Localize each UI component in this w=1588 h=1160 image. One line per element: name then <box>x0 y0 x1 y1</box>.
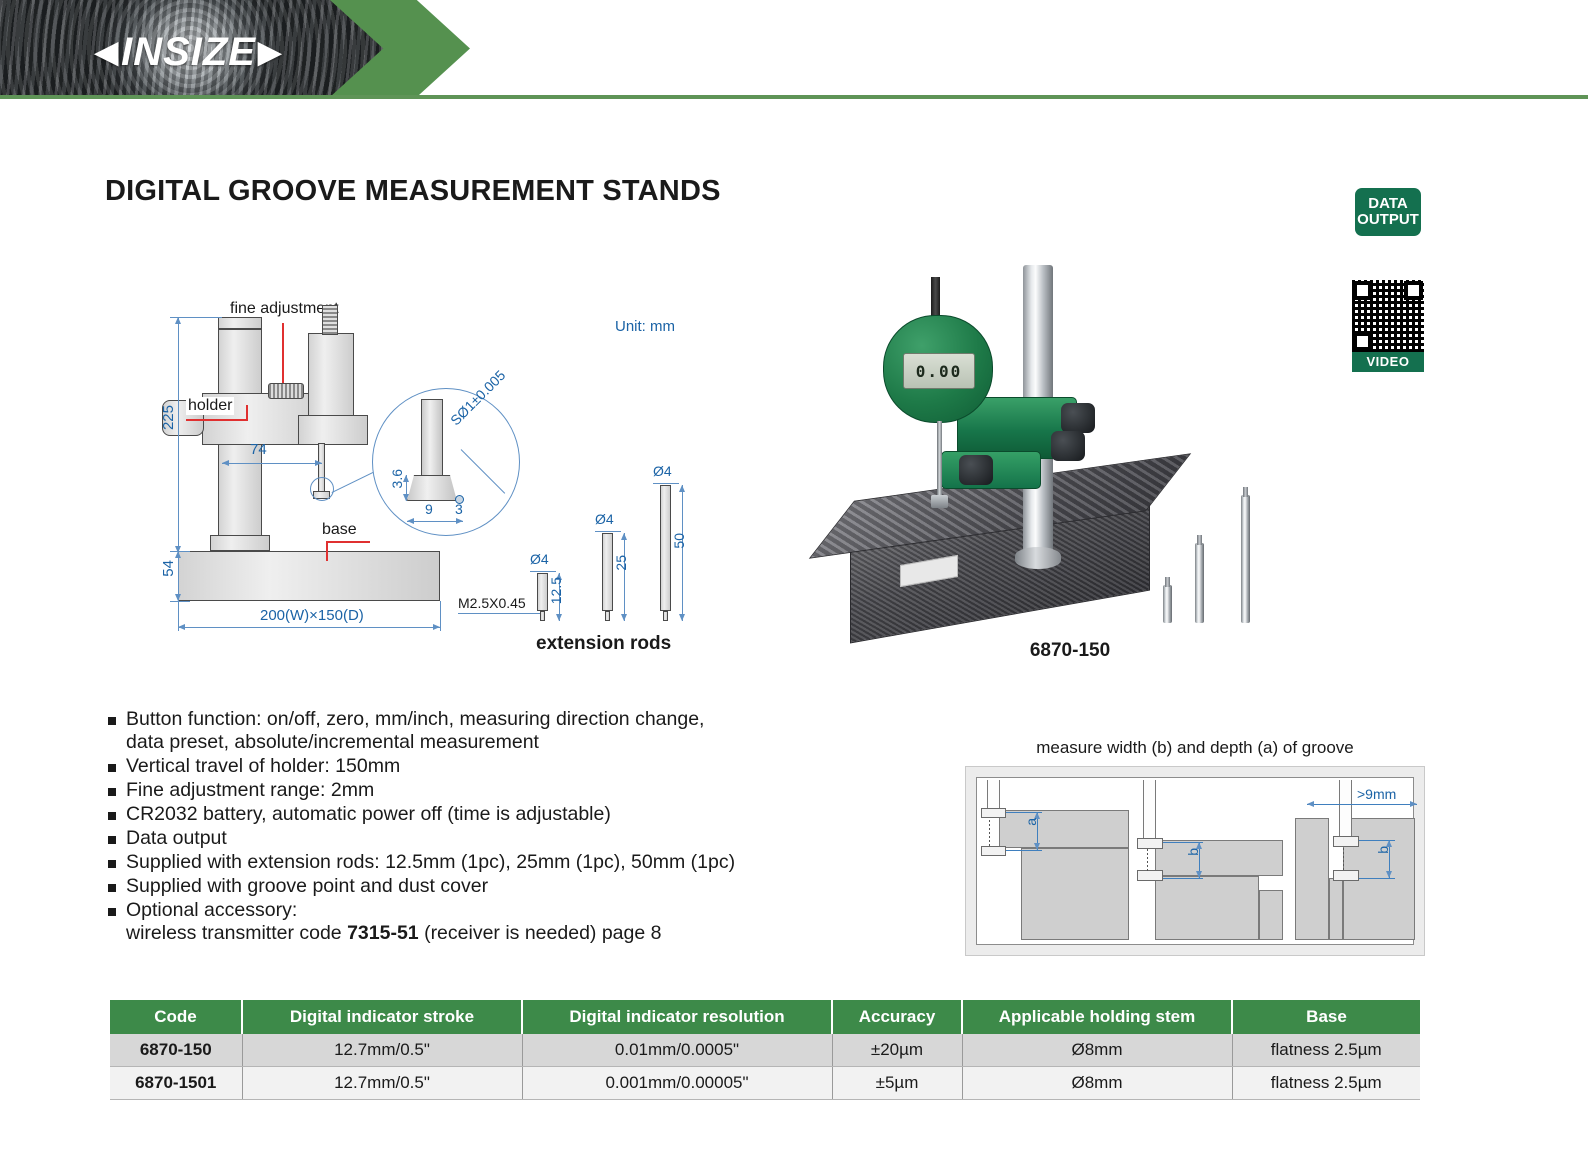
list-item: CR2032 battery, automatic power off (tim… <box>108 803 868 826</box>
cell-code: 6870-1501 <box>110 1067 242 1100</box>
probe-foot-3-bottom <box>1333 870 1359 881</box>
feature-text: Data output <box>126 827 227 850</box>
rod3-len-line <box>682 485 683 621</box>
clamp-knob-right <box>1061 403 1095 433</box>
data-output-badge: DATA OUTPUT <box>1355 188 1421 236</box>
holder-leader-vertical <box>246 405 248 421</box>
list-item: Fine adjustment range: 2mm <box>108 779 868 802</box>
groove-diagram-panel: a b b >9mm <box>965 766 1425 956</box>
unit-note: Unit: mm <box>615 318 675 335</box>
qr-finder-bottom-left <box>1353 332 1372 351</box>
detail-dim-line-9 <box>407 521 463 522</box>
product-photo: 0.00 6870-150 <box>845 255 1295 655</box>
column-header-code: Code <box>110 1000 242 1034</box>
feature-text: Supplied with extension rods: 12.5mm (1p… <box>126 851 735 874</box>
groove-label-a: a <box>1023 818 1039 826</box>
dim-line-clearance <box>1307 804 1417 805</box>
cell-base: flatness 2.5µm <box>1232 1067 1420 1100</box>
probe-stem-2 <box>1143 780 1156 842</box>
workpiece-3-groove-floor <box>1329 878 1343 940</box>
indicator-lcd-display: 0.00 <box>903 353 975 389</box>
detail-dim-9: 9 <box>425 501 433 517</box>
rod3-diameter: Ø4 <box>653 463 672 479</box>
extension-rod-25 <box>602 533 613 611</box>
workpiece-2-upper <box>1155 840 1283 876</box>
video-qr-block[interactable]: VIDEO <box>1352 280 1424 372</box>
holder-leader-horizontal <box>186 419 248 421</box>
bullet-square-icon <box>108 717 116 725</box>
dim-height-225: 225 <box>160 405 177 430</box>
indicator-probe <box>937 421 942 501</box>
table-row: 6870-150 12.7mm/0.5" 0.01mm/0.0005" ±20µ… <box>110 1034 1420 1067</box>
specification-table: Code Digital indicator stroke Digital in… <box>110 1000 1420 1100</box>
list-item-optional-accessory: Optional accessory: wireless transmitter… <box>108 899 868 945</box>
probe-dash-1 <box>989 818 990 846</box>
extension-rod-50-thread <box>663 611 668 621</box>
workpiece-1-lower <box>1021 848 1129 940</box>
dim-tick-54-top <box>170 551 190 552</box>
photo-extension-rod-50 <box>1241 495 1250 623</box>
logo-text: INSIZE <box>121 30 256 75</box>
dim-ext-base-right <box>440 601 441 631</box>
video-label: VIDEO <box>1352 352 1424 372</box>
qr-finder-top-left <box>1353 281 1372 300</box>
thread-spec-label: M2.5X0.45 <box>458 595 526 611</box>
cell-accuracy: ±20µm <box>832 1034 962 1067</box>
dim-offset-74: 74 <box>250 441 267 458</box>
workpiece-2-tab <box>1259 890 1283 940</box>
fine-adjustment-knurled-knob <box>268 383 304 399</box>
photo-extension-rod-25 <box>1195 543 1204 623</box>
dim-height-54: 54 <box>160 560 177 577</box>
thread-leader-line <box>458 613 544 614</box>
optional-accessory-detail: wireless transmitter code 7315-51 (recei… <box>126 922 661 944</box>
logo-right-arrow-icon: ▶ <box>258 35 282 70</box>
column-header-stroke: Digital indicator stroke <box>242 1000 522 1034</box>
bullet-square-icon <box>108 836 116 844</box>
probe-foot-1-bottom <box>981 846 1006 856</box>
photo-rod-25-tip <box>1197 535 1202 545</box>
extension-rod-25-thread <box>605 611 610 621</box>
dim-base-size: 200(W)×150(D) <box>260 607 364 624</box>
qr-finder-top-right <box>1404 281 1423 300</box>
rod1-dia-tick <box>530 571 556 572</box>
column-header-base: Base <box>1232 1000 1420 1034</box>
groove-label-clearance: >9mm <box>1357 786 1396 802</box>
list-item: Supplied with groove point and dust cove… <box>108 875 868 898</box>
extension-rod-50 <box>660 485 671 611</box>
column-header-resolution: Digital indicator resolution <box>522 1000 832 1034</box>
product-photo-caption: 6870-150 <box>845 640 1295 662</box>
rod3-length: 50 <box>671 533 687 549</box>
granite-base-drawing <box>178 551 440 601</box>
list-item: Button function: on/off, zero, mm/inch, … <box>108 708 868 754</box>
dim-line-54 <box>178 551 179 601</box>
base-leader-vertical <box>326 543 328 561</box>
cell-stem: Ø8mm <box>962 1034 1232 1067</box>
page-header: ◀INSIZE▶ <box>0 0 1588 100</box>
detail-dim-3: 3 <box>455 501 463 517</box>
indicator-probe-tip <box>931 495 948 508</box>
accessory-code[interactable]: 7315-51 <box>347 922 419 944</box>
groove-label-b1: b <box>1185 848 1201 856</box>
technical-drawing: Unit: mm fine adjustment Ø30 base holder… <box>100 255 860 675</box>
feature-text: Button function: on/off, zero, mm/inch, … <box>126 708 704 754</box>
probe-dash-2 <box>1147 849 1148 871</box>
column-foot <box>1015 547 1061 569</box>
rod2-length: 25 <box>613 555 629 571</box>
table-row: 6870-1501 12.7mm/0.5" 0.001mm/0.00005" ±… <box>110 1067 1420 1100</box>
list-item: Supplied with extension rods: 12.5mm (1p… <box>108 851 868 874</box>
workpiece-1-upper <box>999 810 1129 848</box>
indicator-stem-drawing <box>322 305 338 335</box>
detail-probe-head <box>407 475 457 501</box>
list-item: Vertical travel of holder: 150mm <box>108 755 868 778</box>
feature-text-line1: Button function: on/off, zero, mm/inch, … <box>126 708 704 730</box>
indicator-body-drawing <box>308 333 354 425</box>
cell-accuracy: ±5µm <box>832 1067 962 1100</box>
feature-text: CR2032 battery, automatic power off (tim… <box>126 803 611 826</box>
accessory-suffix: (receiver is needed) page 8 <box>419 922 662 944</box>
dim-line-base-width <box>178 627 440 628</box>
groove-label-b2: b <box>1375 846 1391 854</box>
label-base: base <box>322 521 357 539</box>
list-item: Data output <box>108 827 868 850</box>
bullet-square-icon <box>108 764 116 772</box>
extension-rods-caption: extension rods <box>536 633 671 655</box>
label-holder: holder <box>186 397 234 415</box>
detail-dim-line-3-6 <box>406 475 407 501</box>
probe-foot-2-bottom <box>1137 870 1163 881</box>
feature-text: Vertical travel of holder: 150mm <box>126 755 400 778</box>
dim-ext-base-left <box>178 601 179 631</box>
rod2-diameter: Ø4 <box>595 511 614 527</box>
groove-diagram-title: measure width (b) and depth (a) of groov… <box>965 738 1425 758</box>
detail-view-circle: 3.6 9 3 SØ1±0.005 <box>372 388 520 536</box>
probe-dash-3 <box>1343 847 1344 870</box>
bullet-square-icon <box>108 812 116 820</box>
optional-accessory-label: Optional accessory: <box>126 899 297 921</box>
logo-left-arrow-icon: ◀ <box>95 35 119 70</box>
feature-text: Fine adjustment range: 2mm <box>126 779 374 802</box>
cell-stroke: 12.7mm/0.5" <box>242 1034 522 1067</box>
cell-code: 6870-150 <box>110 1034 242 1067</box>
fine-adjustment-leader-line <box>282 323 284 388</box>
groove-measurement-diagram: measure width (b) and depth (a) of groov… <box>965 738 1425 956</box>
workpiece-3-left <box>1295 818 1329 940</box>
feature-text-line2: data preset, absolute/incremental measur… <box>126 731 539 753</box>
table-header-row: Code Digital indicator stroke Digital in… <box>110 1000 1420 1034</box>
detail-sphere-leader <box>461 449 506 494</box>
workpiece-2-lower <box>1155 876 1259 940</box>
column-header-stem: Applicable holding stem <box>962 1000 1232 1034</box>
clamp-knob-right-lower <box>1051 431 1085 461</box>
qr-code-icon[interactable] <box>1352 280 1424 352</box>
clamp-knob-front <box>959 455 993 485</box>
accessory-prefix: wireless transmitter code <box>126 922 347 944</box>
dim-tick-225-top <box>170 317 222 318</box>
bullet-square-icon <box>108 908 116 916</box>
photo-rod-50-tip <box>1243 487 1248 497</box>
post-flange <box>210 535 270 551</box>
probe-foot-2-top <box>1137 838 1163 849</box>
ref-line-2-bottom <box>1163 878 1203 879</box>
rod2-dia-tick <box>595 531 621 532</box>
data-output-line1: DATA <box>1368 196 1407 212</box>
dim-line-74 <box>222 463 322 464</box>
cell-base: flatness 2.5µm <box>1232 1034 1420 1067</box>
feature-text: Optional accessory: wireless transmitter… <box>126 899 661 945</box>
post-cap <box>218 317 262 329</box>
rod1-length: 12.5 <box>548 577 564 604</box>
dim-line-225 <box>178 317 179 553</box>
bullet-square-icon <box>108 884 116 892</box>
probe-foot-1-top <box>981 808 1006 818</box>
cell-stroke: 12.7mm/0.5" <box>242 1067 522 1100</box>
bullet-square-icon <box>108 788 116 796</box>
cell-stem: Ø8mm <box>962 1067 1232 1100</box>
data-output-line2: OUTPUT <box>1357 212 1419 228</box>
base-leader-horizontal <box>326 541 370 543</box>
rod2-len-line <box>624 533 625 621</box>
rod1-diameter: Ø4 <box>530 551 549 567</box>
cell-resolution: 0.01mm/0.0005" <box>522 1034 832 1067</box>
header-green-rule <box>0 95 1588 99</box>
page-title: DIGITAL GROOVE MEASUREMENT STANDS <box>105 175 721 208</box>
probe-foot-3-top <box>1333 836 1359 847</box>
bullet-square-icon <box>108 860 116 868</box>
feature-list: Button function: on/off, zero, mm/inch, … <box>108 708 868 946</box>
detail-sphere-spec: SØ1±0.005 <box>447 367 508 428</box>
cell-resolution: 0.001mm/0.00005" <box>522 1067 832 1100</box>
groove-diagram-canvas: a b b >9mm <box>976 777 1414 945</box>
photo-rod-12-5-tip <box>1165 577 1170 587</box>
dim-tick-54-bottom <box>170 601 190 602</box>
insize-logo: ◀INSIZE▶ <box>95 30 282 75</box>
feature-text: Supplied with groove point and dust cove… <box>126 875 488 898</box>
photo-extension-rod-12-5 <box>1163 585 1172 623</box>
ref-line-1-bottom <box>1006 850 1042 851</box>
rod3-dia-tick <box>653 483 679 484</box>
probe-stem-3 <box>1339 780 1352 838</box>
column-header-accuracy: Accuracy <box>832 1000 962 1034</box>
ref-line-3-bottom <box>1359 878 1395 879</box>
extension-rod-12-5 <box>537 573 548 611</box>
extension-rod-12-5-thread <box>540 611 545 621</box>
detail-probe-shaft <box>421 399 443 477</box>
